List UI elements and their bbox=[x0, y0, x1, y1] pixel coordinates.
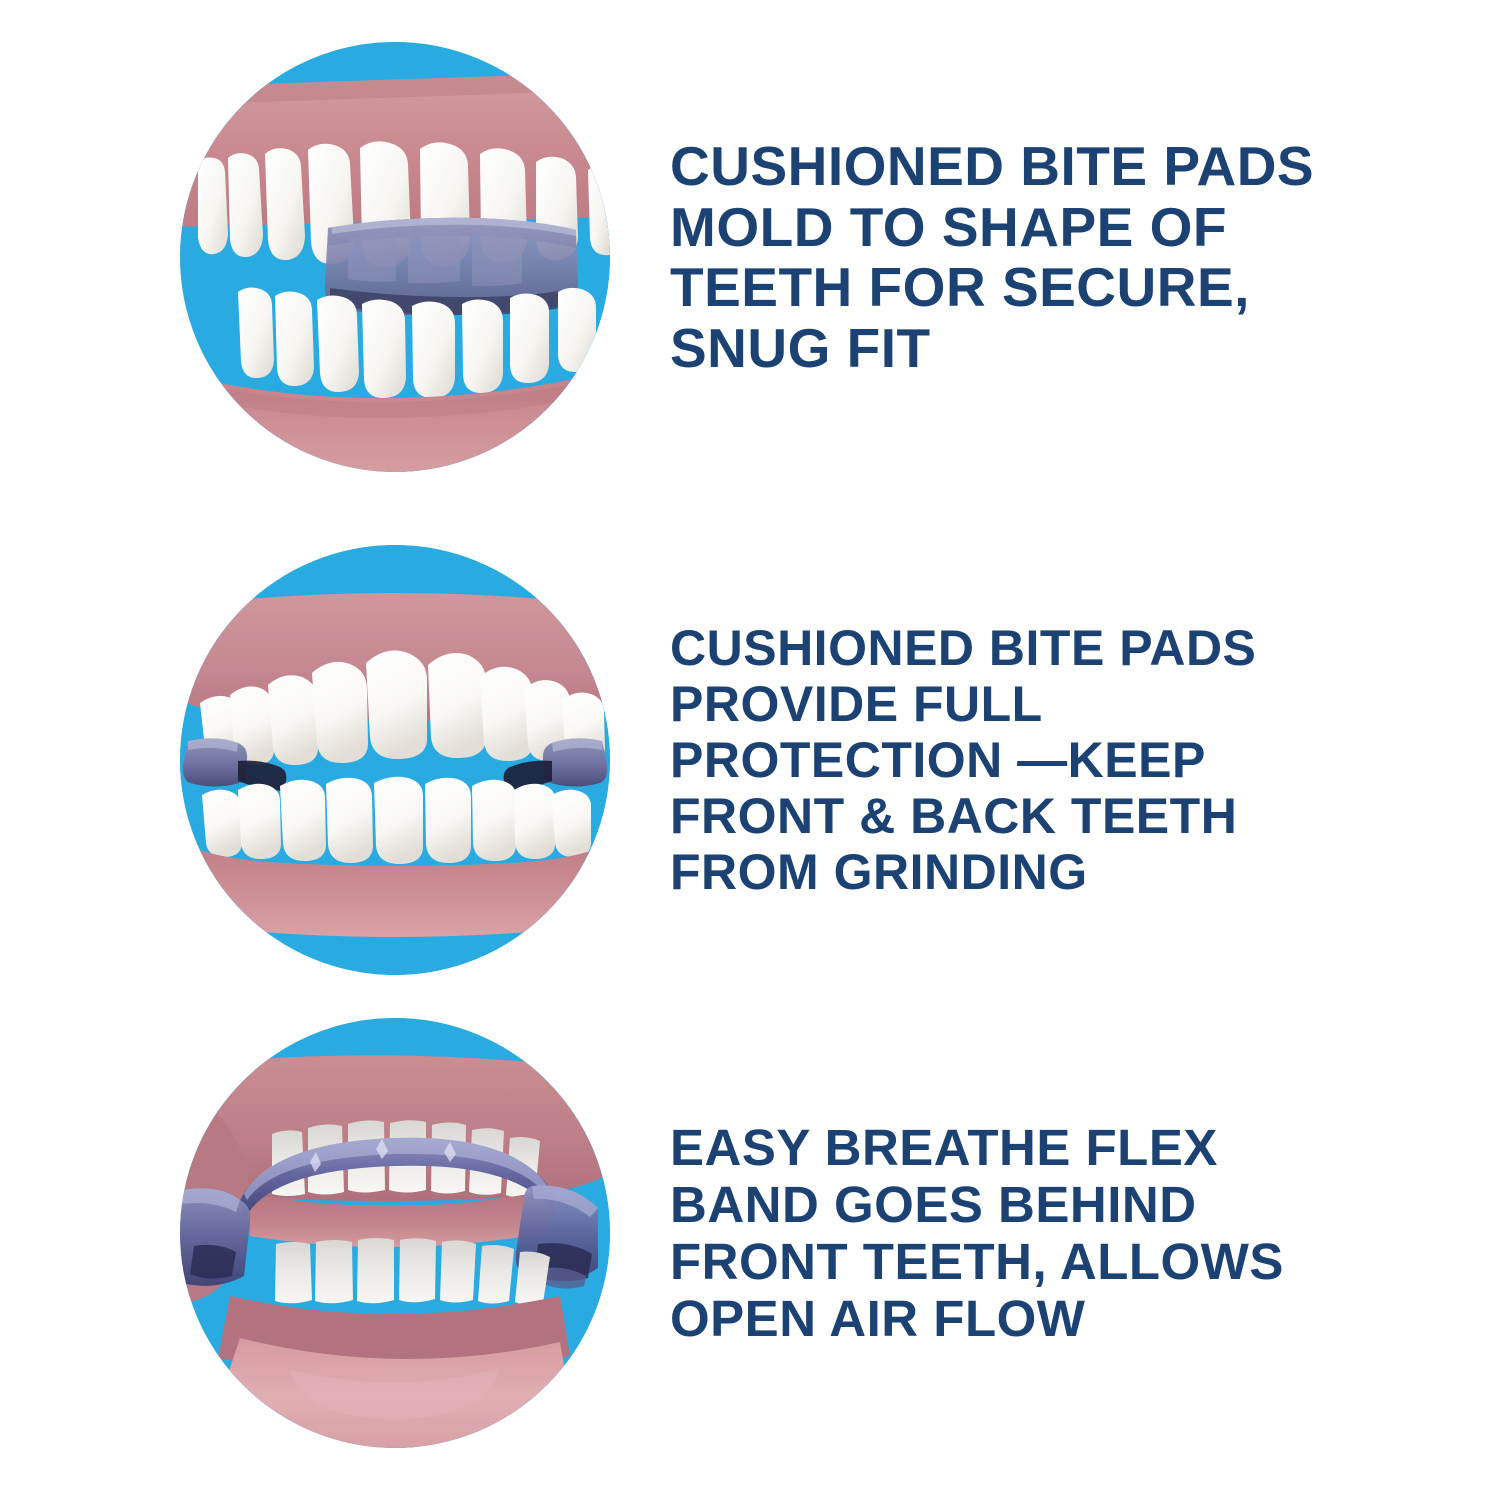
feature-headline-3: EASY BREATHE FLEX BAND GOES BEHIND FRONT… bbox=[670, 1119, 1370, 1347]
teeth-side-view-with-mouthguard-image bbox=[180, 42, 610, 472]
feature-headline-1: CUSHIONED BITE PADS MOLD TO SHAPE OF TEE… bbox=[670, 136, 1370, 378]
feature-copy-1: CUSHIONED BITE PADS MOLD TO SHAPE OF TEE… bbox=[670, 136, 1500, 378]
feature-copy-2: CUSHIONED BITE PADS PROVIDE FULL PROTECT… bbox=[670, 620, 1500, 900]
feature-row-3: EASY BREATHE FLEX BAND GOES BEHIND FRONT… bbox=[0, 1018, 1500, 1448]
feature-row-1: CUSHIONED BITE PADS MOLD TO SHAPE OF TEE… bbox=[0, 42, 1500, 472]
feature-headline-2: CUSHIONED BITE PADS PROVIDE FULL PROTECT… bbox=[670, 620, 1350, 900]
feature-row-2: CUSHIONED BITE PADS PROVIDE FULL PROTECT… bbox=[0, 545, 1500, 975]
infographic-page: CUSHIONED BITE PADS MOLD TO SHAPE OF TEE… bbox=[0, 0, 1500, 1500]
teeth-front-view-with-bite-pads-image bbox=[180, 545, 610, 975]
feature-copy-3: EASY BREATHE FLEX BAND GOES BEHIND FRONT… bbox=[670, 1119, 1500, 1347]
teeth-inside-view-with-flex-band-image bbox=[180, 1018, 610, 1448]
